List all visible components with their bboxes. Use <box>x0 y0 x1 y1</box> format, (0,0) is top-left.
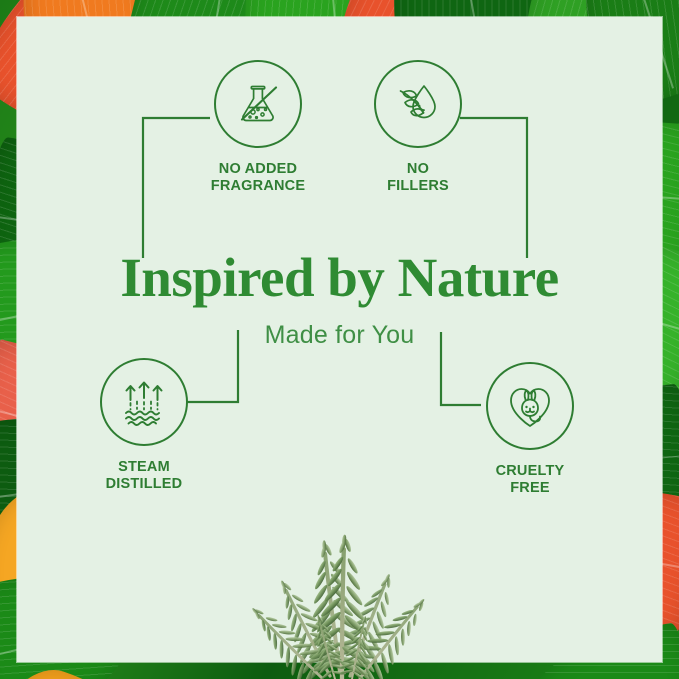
rabbit-heart-icon <box>503 379 557 433</box>
badge-circle <box>374 60 462 148</box>
badge-no-added-fragrance[interactable]: NO ADDED FRAGRANCE <box>210 60 306 195</box>
poster: NO ADDED FRAGRANCE NO FILLERS <box>0 0 679 679</box>
badge-cruelty-free[interactable]: CRUELTY FREE <box>482 362 578 497</box>
badge-label: NO FILLERS <box>370 161 466 195</box>
badge-circle <box>100 358 188 446</box>
badge-label: STEAM DISTILLED <box>96 459 192 493</box>
page-title: Inspired by Nature <box>0 250 679 305</box>
badge-steam-distilled[interactable]: STEAM DISTILLED <box>96 358 192 493</box>
page-subtitle: Made for You <box>0 321 679 350</box>
headline-block: Inspired by Nature Made for You <box>0 250 679 350</box>
badge-no-fillers[interactable]: NO FILLERS <box>370 60 466 195</box>
droplet-leaf-icon <box>391 77 445 131</box>
steam-waves-icon <box>117 375 171 429</box>
badge-label: CRUELTY FREE <box>482 463 578 497</box>
badge-circle <box>214 60 302 148</box>
badge-label: NO ADDED FRAGRANCE <box>210 161 306 195</box>
badge-circle <box>486 362 574 450</box>
flask-slashed-icon <box>231 77 285 131</box>
